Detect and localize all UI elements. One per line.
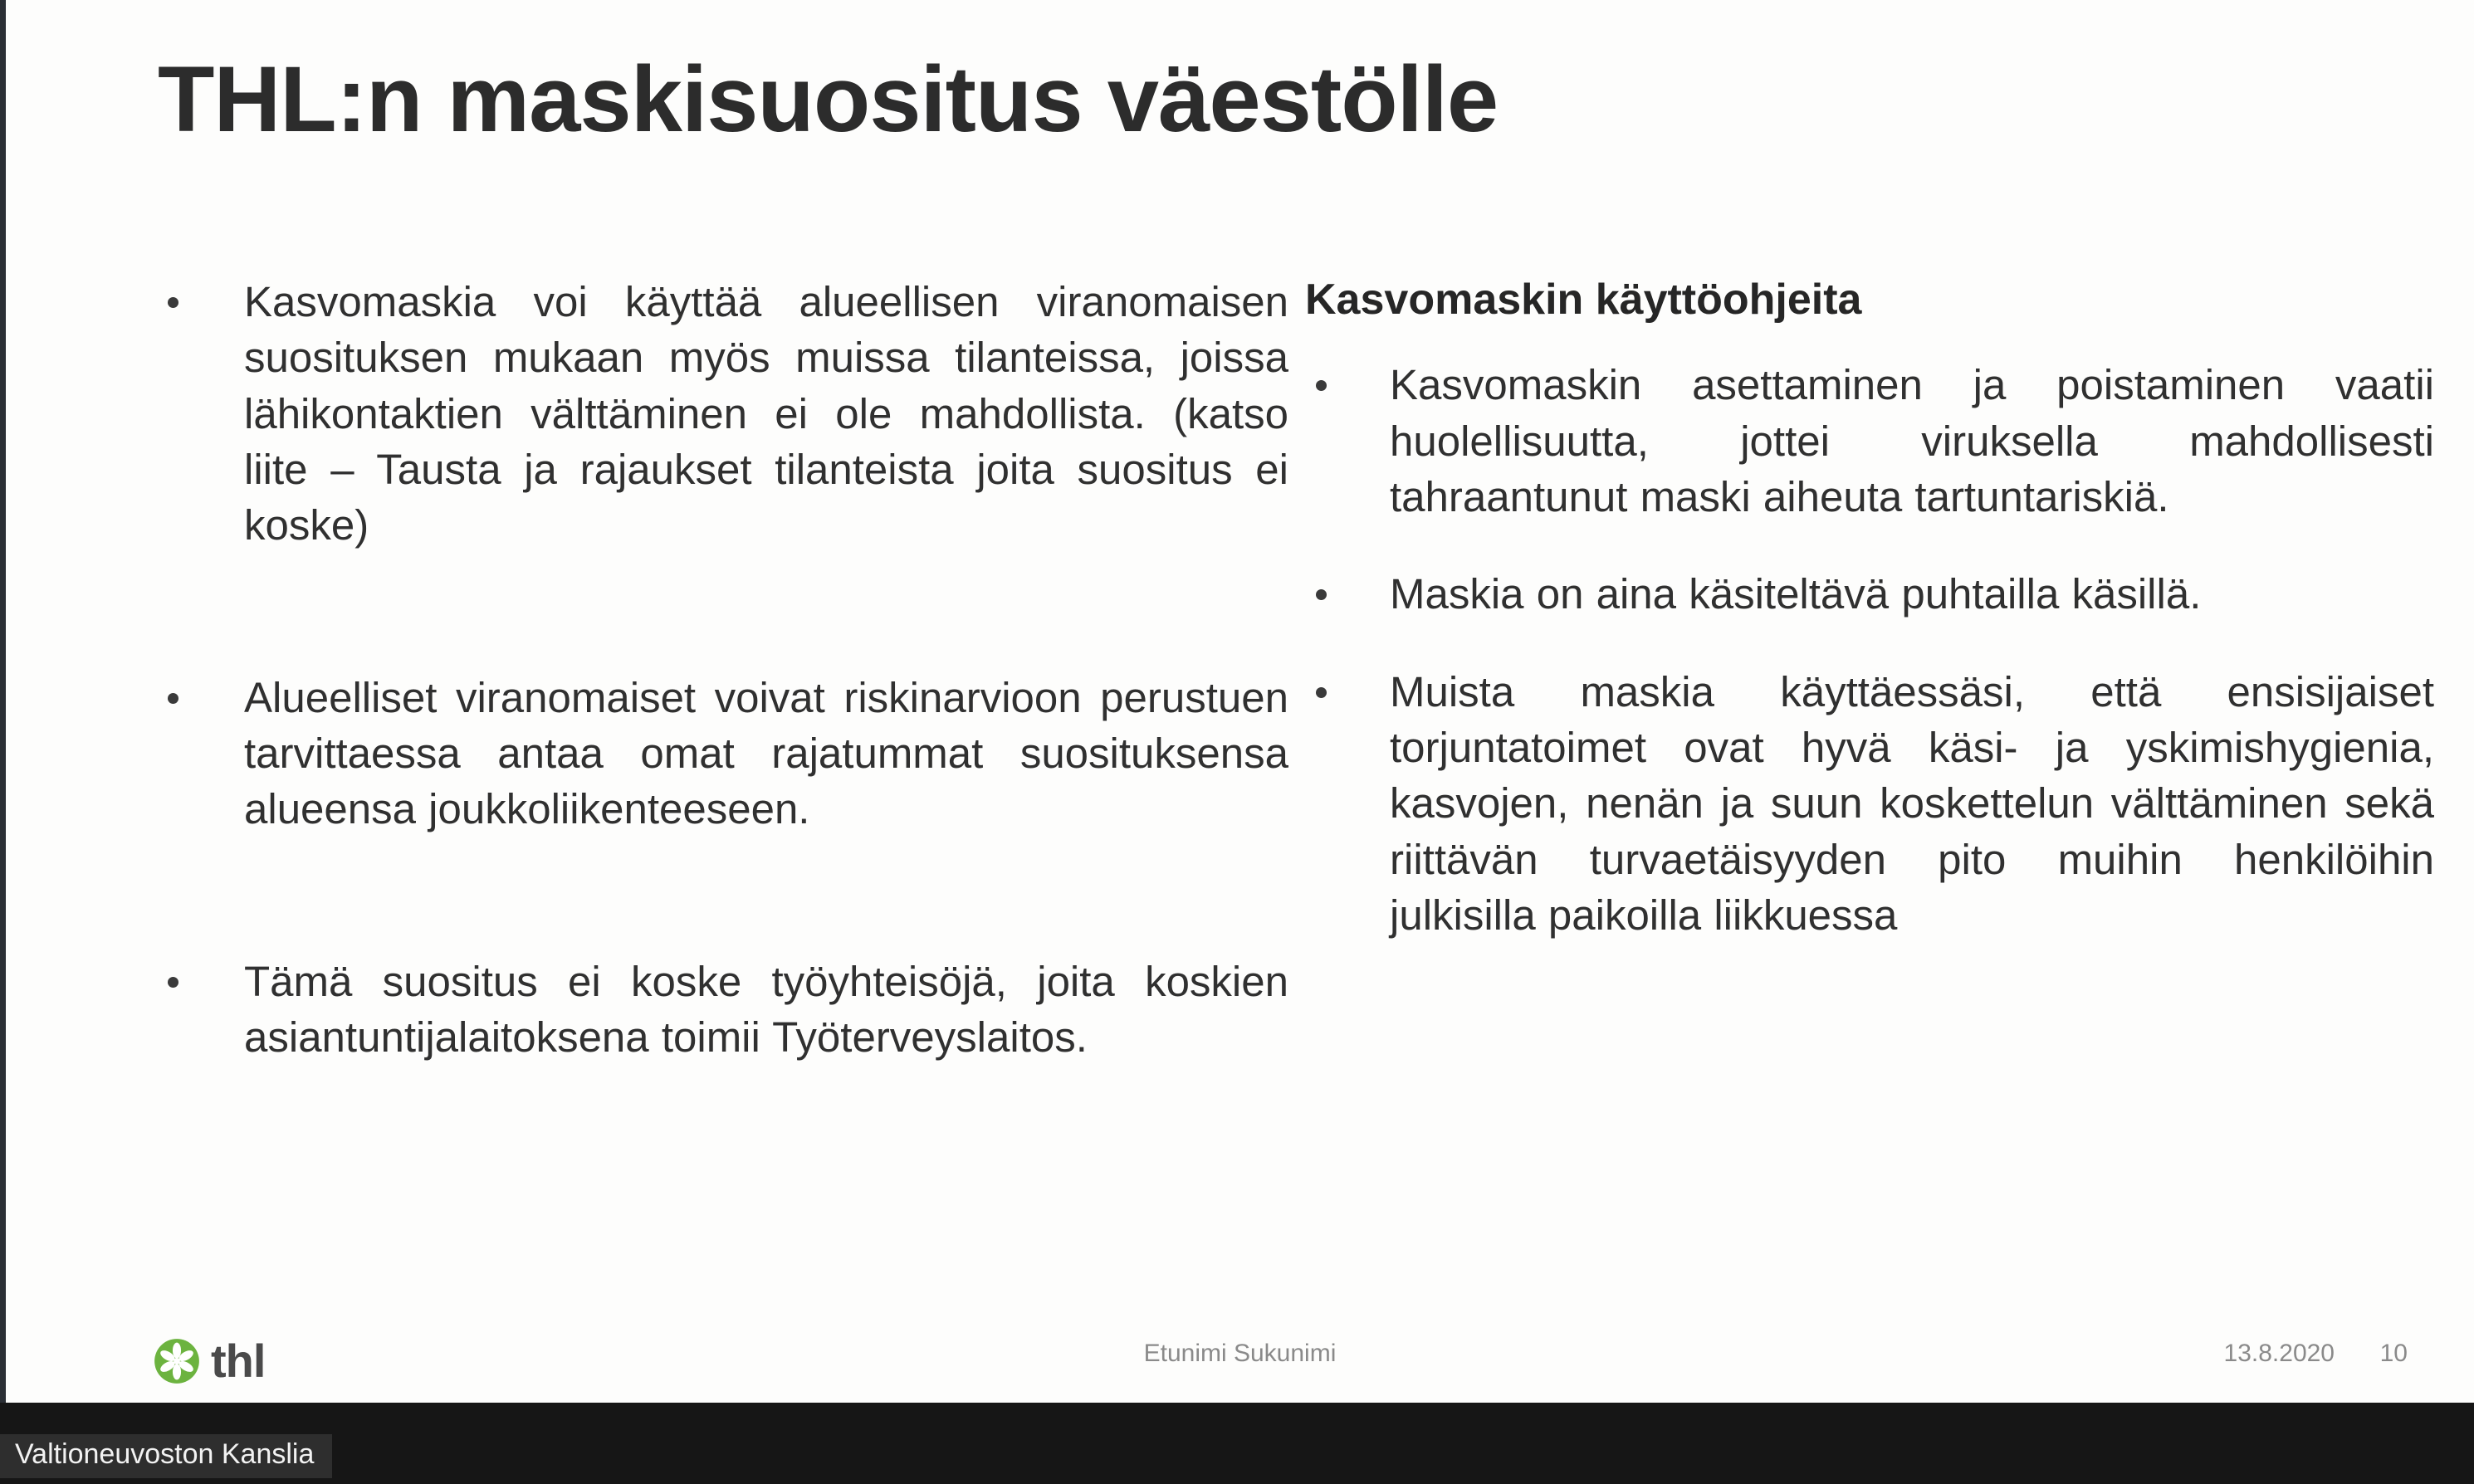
slide-page-number: 10 <box>2380 1340 2408 1368</box>
list-item: Maskia on aina käsiteltävä puhtailla käs… <box>1305 566 2434 622</box>
presentation-slide: THL:n maskisuositus väestölle Kasvomaski… <box>6 0 2474 1403</box>
right-column-heading: Kasvomaskin käyttöohjeita <box>1305 274 2434 325</box>
right-content-column: Kasvomaskin käyttöohjeita Kasvomaskin as… <box>1305 274 2434 943</box>
screen-share-viewport: THL:n maskisuositus väestölle Kasvomaski… <box>0 0 2474 1484</box>
left-content-column: Kasvomaskia voi käyttää alueellisen vira… <box>151 274 1288 1065</box>
list-item: Muista maskia käyttäessäsi, että ensisij… <box>1305 664 2434 944</box>
slide-title: THL:n maskisuositus väestölle <box>158 46 1498 153</box>
slide-footer: thl Etunimi Sukunimi 13.8.2020 10 <box>6 1295 2474 1403</box>
presenter-name: Etunimi Sukunimi <box>6 1340 2474 1368</box>
slide-date: 13.8.2020 <box>2224 1340 2335 1368</box>
list-item: Alueelliset viranomaiset voivat riskinar… <box>151 670 1288 837</box>
right-bullet-list: Kasvomaskin asettaminen ja poistaminen v… <box>1305 357 2434 943</box>
list-item: Tämä suositus ei koske työyhteisöjä, joi… <box>151 954 1288 1066</box>
list-item: Kasvomaskia voi käyttää alueellisen vira… <box>151 274 1288 554</box>
left-bullet-list: Kasvomaskia voi käyttää alueellisen vira… <box>151 274 1288 1065</box>
participant-name-chip: Valtioneuvoston Kanslia <box>0 1434 332 1478</box>
left-edge-gutter <box>0 0 6 1403</box>
list-item: Kasvomaskin asettaminen ja poistaminen v… <box>1305 357 2434 525</box>
meeting-bottom-bar: Valtioneuvoston Kanslia <box>0 1403 2474 1484</box>
